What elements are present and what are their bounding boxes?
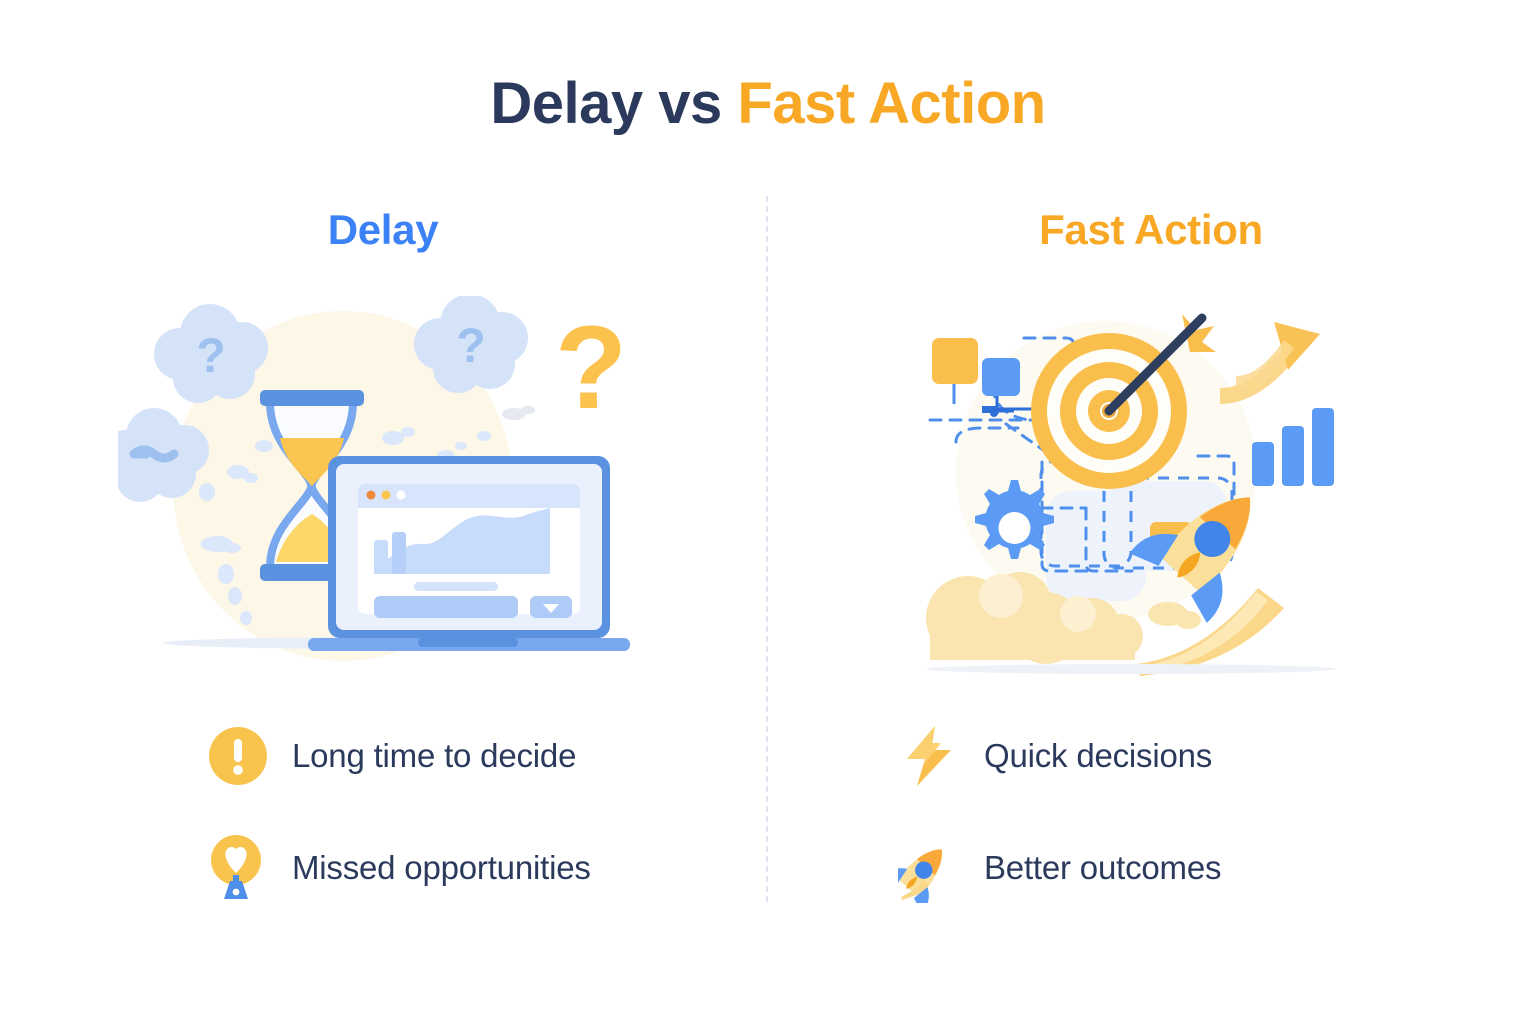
- illustration-delay: ? ?: [0, 296, 766, 676]
- lightning-bolt-icon: [898, 724, 962, 788]
- column-delay: Delay: [0, 0, 766, 1024]
- svg-text:?: ?: [196, 330, 225, 383]
- laptop-icon: [308, 456, 630, 651]
- list-item[interactable]: Quick decisions: [766, 700, 1536, 812]
- list-item-label: Better outcomes: [984, 849, 1221, 887]
- infographic-page: Delay vs Fast Action Delay: [0, 0, 1536, 1024]
- svg-text:?: ?: [456, 320, 485, 373]
- target-rocket-growth-illustration: [896, 296, 1366, 676]
- bar-chart-icon: [1252, 408, 1334, 486]
- bullet-list-delay: Long time to decide Missed opportunities: [0, 700, 766, 924]
- growth-arrow-icon: [1220, 322, 1320, 404]
- illustration-fast-action: [766, 296, 1536, 676]
- exclamation-circle-icon: [206, 724, 270, 788]
- blue-node: [982, 358, 1020, 396]
- bullet-list-fast-action: Quick decisions: [766, 700, 1536, 924]
- hourglass-trophy-icon: [206, 836, 270, 900]
- list-item[interactable]: Long time to decide: [0, 700, 766, 812]
- list-item[interactable]: Missed opportunities: [0, 812, 766, 924]
- column-heading-fast-action: Fast Action: [766, 206, 1536, 254]
- hourglass-laptop-thinking-illustration: ? ?: [118, 296, 648, 676]
- column-heading-delay: Delay: [0, 206, 766, 254]
- svg-text:?: ?: [555, 302, 627, 434]
- list-item-label: Missed opportunities: [292, 849, 591, 887]
- column-fast-action: Fast Action: [766, 0, 1536, 1024]
- gear-icon: [975, 480, 1054, 559]
- rocket-icon: [898, 836, 962, 900]
- orange-node: [932, 338, 978, 384]
- list-item-label: Long time to decide: [292, 737, 576, 775]
- list-item[interactable]: Better outcomes: [766, 812, 1536, 924]
- list-item-label: Quick decisions: [984, 737, 1212, 775]
- question-mark-icon: ?: [555, 302, 627, 434]
